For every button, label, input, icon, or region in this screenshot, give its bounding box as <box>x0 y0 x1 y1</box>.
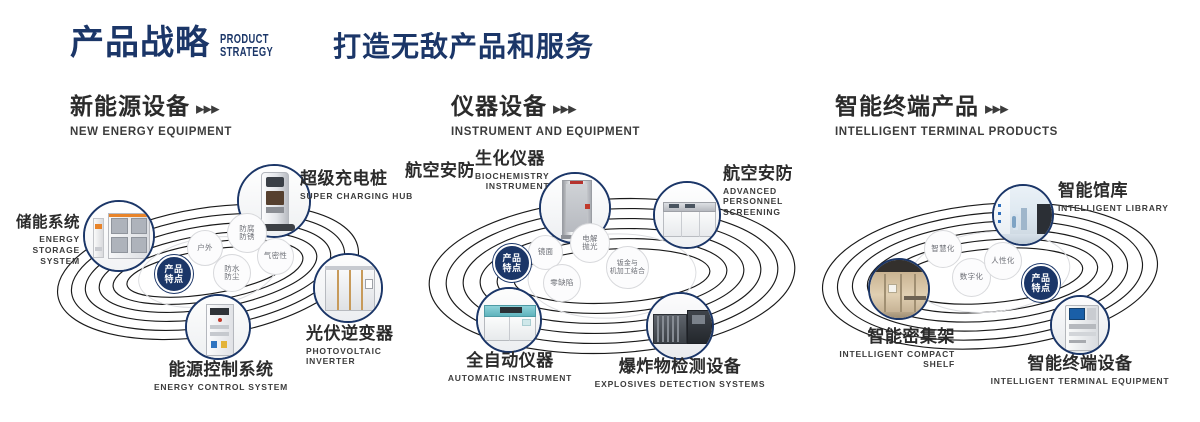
feature-bubble-1: 电解 抛光 <box>570 223 610 263</box>
pv-inverter-cabinet-photo <box>315 255 381 321</box>
section-title-en: NEW ENERGY EQUIPMENT <box>70 126 232 138</box>
section-title-en: INSTRUMENT AND EQUIPMENT <box>451 126 640 138</box>
node-intelligent-terminal-equipment[interactable] <box>1050 295 1110 355</box>
node-explosives-detection-systems[interactable] <box>646 292 714 360</box>
control-cabinet-photo <box>187 296 249 358</box>
feature-bubble-0: 智慧化 <box>924 230 962 268</box>
page-title-en: PRODUCT STRATEGY <box>220 32 273 58</box>
compact-shelving-photo <box>870 260 928 318</box>
cluster-instrument: 航空安防 生化仪器 BIOCHEMISTRY INSTRUMENT 航空安防 A… <box>400 150 820 400</box>
self-service-kiosk-photo <box>1052 297 1108 353</box>
caption-biochemistry-instrument: 生化仪器 BIOCHEMISTRY INSTRUMENT <box>475 150 549 192</box>
node-photovoltaic-inverter[interactable] <box>313 253 383 323</box>
chevron-triple-icon: ▸▸▸ <box>985 99 1008 118</box>
cluster-new-energy: 储能系统 ENERGY STORAGE SYSTEM 超级充电桩 SUPER C… <box>0 150 420 400</box>
section-title-cn: 新能源设备▸▸▸ <box>70 95 232 118</box>
core-badge-product-features: 产品 特点 <box>493 244 531 282</box>
caption-intelligent-compact-shelf: 智能密集架 INTELLIGENT COMPACT SHELF <box>800 328 955 370</box>
feature-bubble-2: 零缺陷 <box>543 264 581 302</box>
section-title-cn: 仪器设备▸▸▸ <box>451 95 640 118</box>
product-strategy-infographic: 产品战略 PRODUCT STRATEGY 打造无敌产品和服务 新能源设备▸▸▸… <box>0 0 1200 422</box>
caption-automatic-instrument: 全自动仪器 AUTOMATIC INSTRUMENT <box>410 352 610 383</box>
caption-energy-storage-system: 储能系统 ENERGY STORAGE SYSTEM <box>0 215 80 266</box>
feature-bubble-2: 防水 防尘 <box>213 254 251 292</box>
node-intelligent-library[interactable] <box>992 184 1054 246</box>
chevron-triple-icon: ▸▸▸ <box>196 99 219 118</box>
feature-bubble-3: 钣金与 机加工结合 <box>606 246 649 289</box>
core-badge-product-features: 产品 特点 <box>155 255 193 293</box>
chevron-triple-icon: ▸▸▸ <box>553 99 576 118</box>
page-title-block: 产品战略 PRODUCT STRATEGY <box>70 26 294 60</box>
node-energy-control-system[interactable] <box>185 294 251 360</box>
section-heading-instrument: 仪器设备▸▸▸ INSTRUMENT AND EQUIPMENT <box>451 95 640 138</box>
section-title-cn: 智能终端产品▸▸▸ <box>835 95 1058 118</box>
library-interior-photo <box>994 186 1052 244</box>
section-heading-intelligent-terminal: 智能终端产品▸▸▸ INTELLIGENT TERMINAL PRODUCTS <box>835 95 1058 138</box>
section-heading-new-energy: 新能源设备▸▸▸ NEW ENERGY EQUIPMENT <box>70 95 232 138</box>
extra-label-aviation-security: 航空安防 <box>405 162 475 180</box>
explosives-detector-photo <box>648 294 712 358</box>
caption-intelligent-library: 智能馆库 INTELLIGENT LIBRARY <box>1058 182 1169 213</box>
core-badge-product-features: 产品 特点 <box>1022 264 1060 302</box>
section-title-en: INTELLIGENT TERMINAL PRODUCTS <box>835 126 1058 138</box>
page-subtitle: 打造无敌产品和服务 <box>333 30 594 64</box>
caption-explosives-detection-systems: 爆炸物检测设备 EXPLOSIVES DETECTION SYSTEMS <box>580 358 780 389</box>
cluster-intelligent-terminal: 智能馆库 INTELLIGENT LIBRARY 智能终端设备 INTELLIG… <box>800 150 1200 400</box>
page-title-cn: 产品战略 <box>70 26 210 60</box>
feature-bubble-3: 气密性 <box>257 238 294 275</box>
feature-bubble-2: 人性化 <box>984 242 1022 280</box>
caption-energy-control-system: 能源控制系统 ENERGY CONTROL SYSTEM <box>96 361 346 392</box>
caption-super-charging-hub: 超级充电桩 SUPER CHARGING HUB <box>300 170 413 201</box>
screening-machine-photo <box>655 183 719 247</box>
caption-intelligent-terminal-equipment: 智能终端设备 INTELLIGENT TERMINAL EQUIPMENT <box>965 355 1195 386</box>
node-automatic-instrument[interactable] <box>476 287 542 353</box>
energy-storage-cabinet-photo <box>85 202 153 270</box>
node-advanced-personnel-screening[interactable] <box>653 181 721 249</box>
node-energy-storage-system[interactable] <box>83 200 155 272</box>
automatic-instrument-photo <box>478 289 540 351</box>
node-intelligent-compact-shelf[interactable] <box>868 258 930 320</box>
